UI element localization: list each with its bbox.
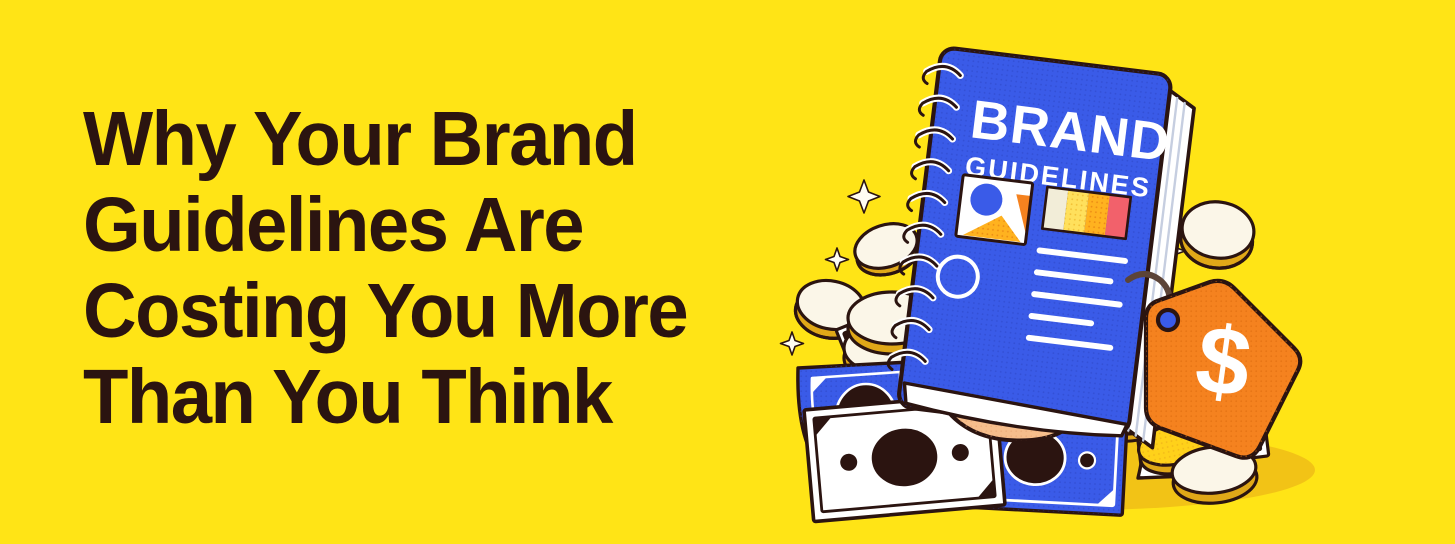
- page-title: Why Your Brand Guidelines Are Costing Yo…: [83, 96, 743, 440]
- headline-line-1: Why Your Brand: [83, 96, 720, 182]
- book-logo-thumbnail: [956, 175, 1033, 245]
- illustration-svg: BRAND GUIDELINES: [740, 0, 1455, 544]
- tag-eyelet: [1158, 310, 1178, 330]
- banner-root: Why Your Brand Guidelines Are Costing Yo…: [0, 0, 1455, 544]
- headline-line-2: Guidelines Are: [83, 182, 720, 268]
- headline-line-3: Costing You More: [83, 268, 720, 354]
- book-palette-swatches: [1042, 187, 1130, 239]
- hero-illustration: BRAND GUIDELINES: [740, 0, 1455, 544]
- headline-line-4: Than You Think: [83, 354, 720, 440]
